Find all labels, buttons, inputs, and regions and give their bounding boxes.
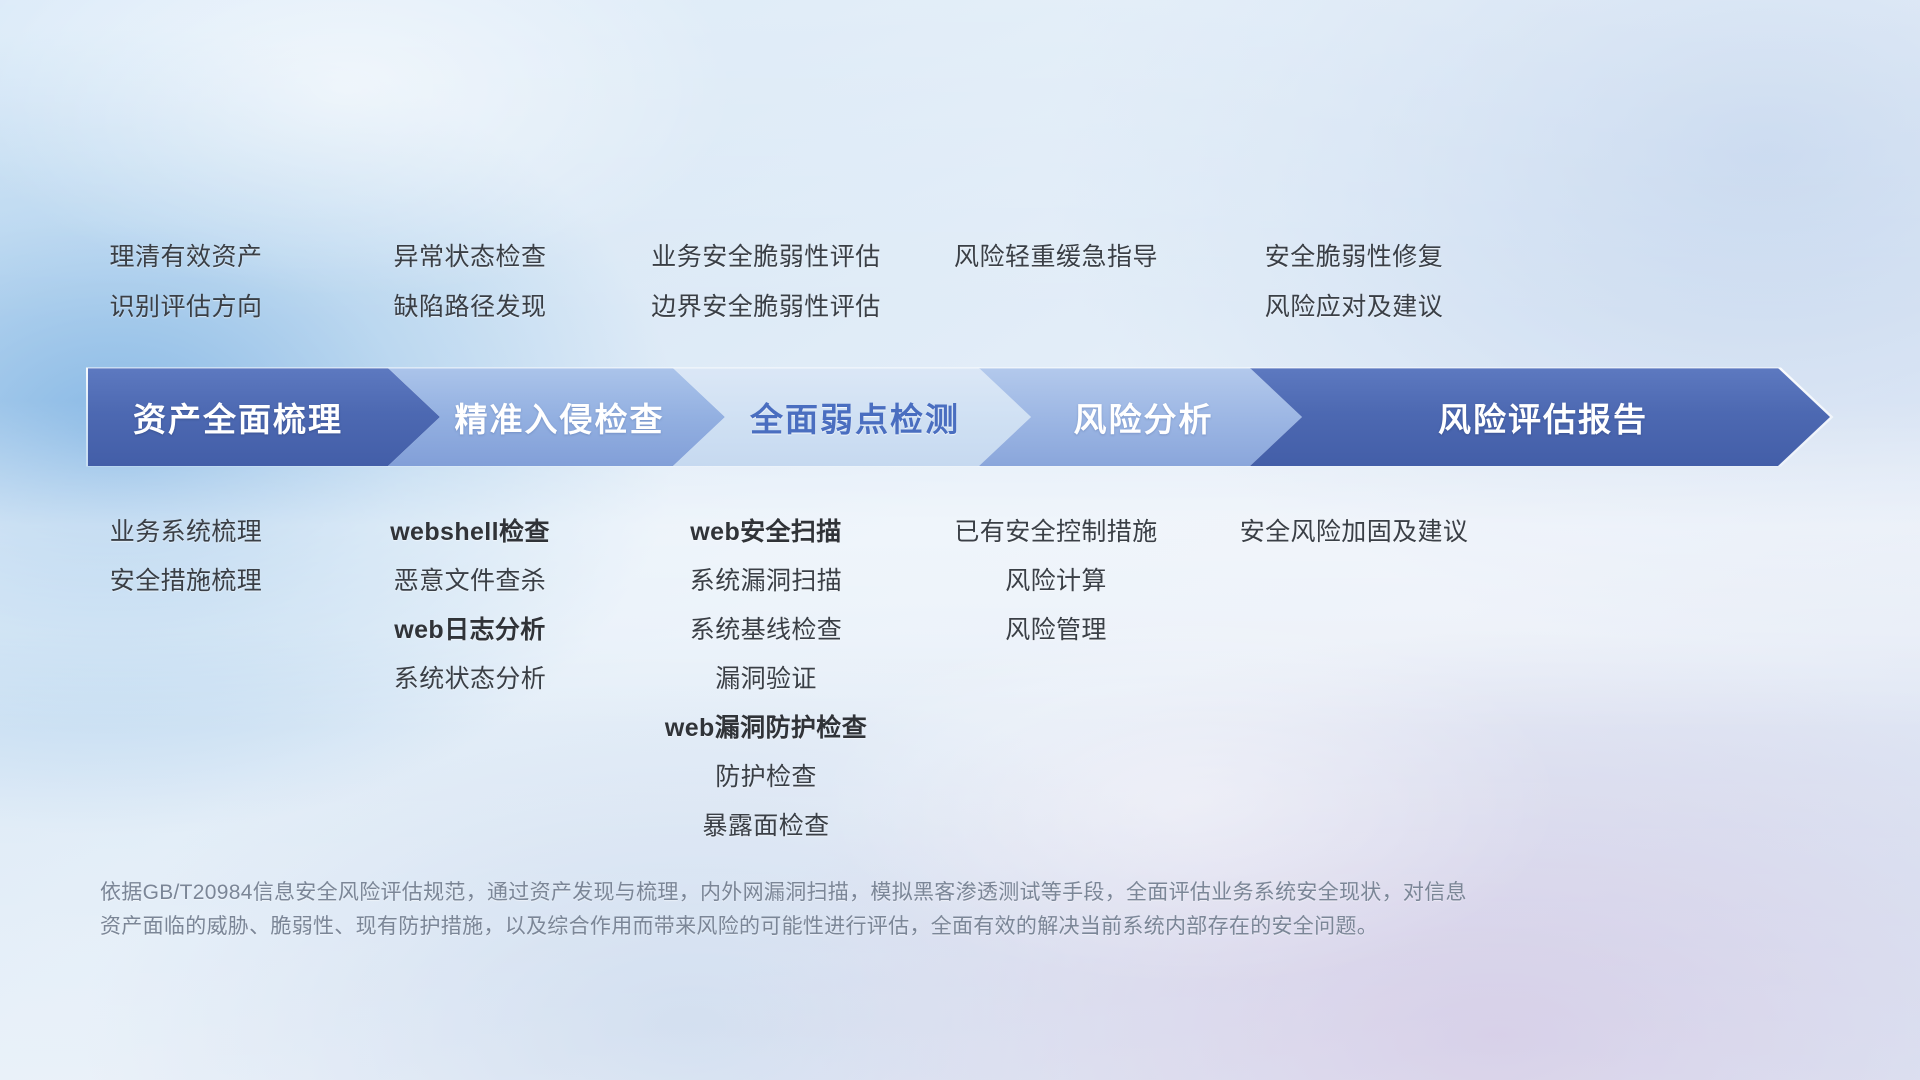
stage-top-item: 安全脆弱性修复	[1265, 232, 1444, 282]
stage-bottom-item: 安全措施梳理	[110, 557, 262, 606]
stage-bottom-list-weakness-detection: web安全扫描系统漏洞扫描系统基线检查漏洞验证web漏洞防护检查防护检查暴露面检…	[665, 508, 867, 851]
stage-top-item: 风险轻重缓急指导	[954, 232, 1158, 282]
stage-top-item: 业务安全脆弱性评估	[651, 232, 881, 282]
stage-bottom-item: 风险计算	[954, 557, 1157, 606]
stage-top-item: 理清有效资产	[109, 232, 262, 282]
stage-bottom-item: 恶意文件查杀	[390, 557, 550, 606]
footer-line-1: 依据GB/T20984信息安全风险评估规范，通过资产发现与梳理，内外网漏洞扫描，…	[100, 876, 1720, 910]
process-stage-asset-inventory[interactable]: 资产全面梳理	[88, 368, 440, 466]
stage-bottom-list-asset-inventory: 业务系统梳理安全措施梳理	[110, 508, 262, 606]
stage-bottom-item: web安全扫描	[665, 508, 867, 557]
stage-title-assessment-report: 风险评估报告	[1438, 393, 1648, 441]
stage-bottom-item: 防护检查	[665, 753, 867, 802]
process-arrow-banner: 资产全面梳理精准入侵检查全面弱点检测风险分析风险评估报告	[0, 368, 1920, 466]
stage-bottom-item: webshell检查	[390, 508, 550, 557]
footer-line-2: 资产面临的威胁、脆弱性、现有防护措施，以及综合作用而带来风险的可能性进行评估，全…	[100, 910, 1720, 944]
stage-bottom-item: 系统状态分析	[390, 655, 550, 704]
stage-bottom-item: 已有安全控制措施	[954, 508, 1157, 557]
process-stage-assessment-report[interactable]: 风险评估报告	[1250, 368, 1830, 466]
stage-top-item: 缺陷路径发现	[393, 282, 546, 332]
stage-title-risk-analysis: 风险分析	[1074, 393, 1214, 441]
stage-bottom-item: web漏洞防护检查	[665, 704, 867, 753]
stage-bottom-list-assessment-report: 安全风险加固及建议	[1240, 508, 1469, 557]
stage-title-weakness-detection: 全面弱点检测	[750, 393, 960, 441]
stage-bottom-item: 风险管理	[954, 606, 1157, 655]
stage-bottom-item: 业务系统梳理	[110, 508, 262, 557]
stage-bottom-list-intrusion-check: webshell检查恶意文件查杀web日志分析系统状态分析	[390, 508, 550, 704]
stage-bottom-item: 暴露面检查	[665, 802, 867, 851]
stage-bottom-item: 系统基线检查	[665, 606, 867, 655]
stage-title-asset-inventory: 资产全面梳理	[133, 393, 343, 441]
stage-top-item: 识别评估方向	[109, 282, 262, 332]
stage-bottom-list-risk-analysis: 已有安全控制措施风险计算风险管理	[954, 508, 1157, 655]
stage-top-item: 异常状态检查	[393, 232, 546, 282]
stage-top-item: 风险应对及建议	[1265, 282, 1444, 332]
stage-title-intrusion-check: 精准入侵检查	[455, 393, 665, 441]
stage-bottom-item: 安全风险加固及建议	[1240, 508, 1469, 557]
stage-bottom-item: 漏洞验证	[665, 655, 867, 704]
process-stage-weakness-detection[interactable]: 全面弱点检测	[673, 368, 1031, 466]
footer-description: 依据GB/T20984信息安全风险评估规范，通过资产发现与梳理，内外网漏洞扫描，…	[100, 876, 1720, 944]
stage-top-item: 边界安全脆弱性评估	[651, 282, 881, 332]
stage-bottom-item: 系统漏洞扫描	[665, 557, 867, 606]
stage-bottom-item: web日志分析	[390, 606, 550, 655]
slide-content: 理清有效资产异常状态检查业务安全脆弱性评估风险轻重缓急指导安全脆弱性修复 识别评…	[0, 0, 1920, 1080]
